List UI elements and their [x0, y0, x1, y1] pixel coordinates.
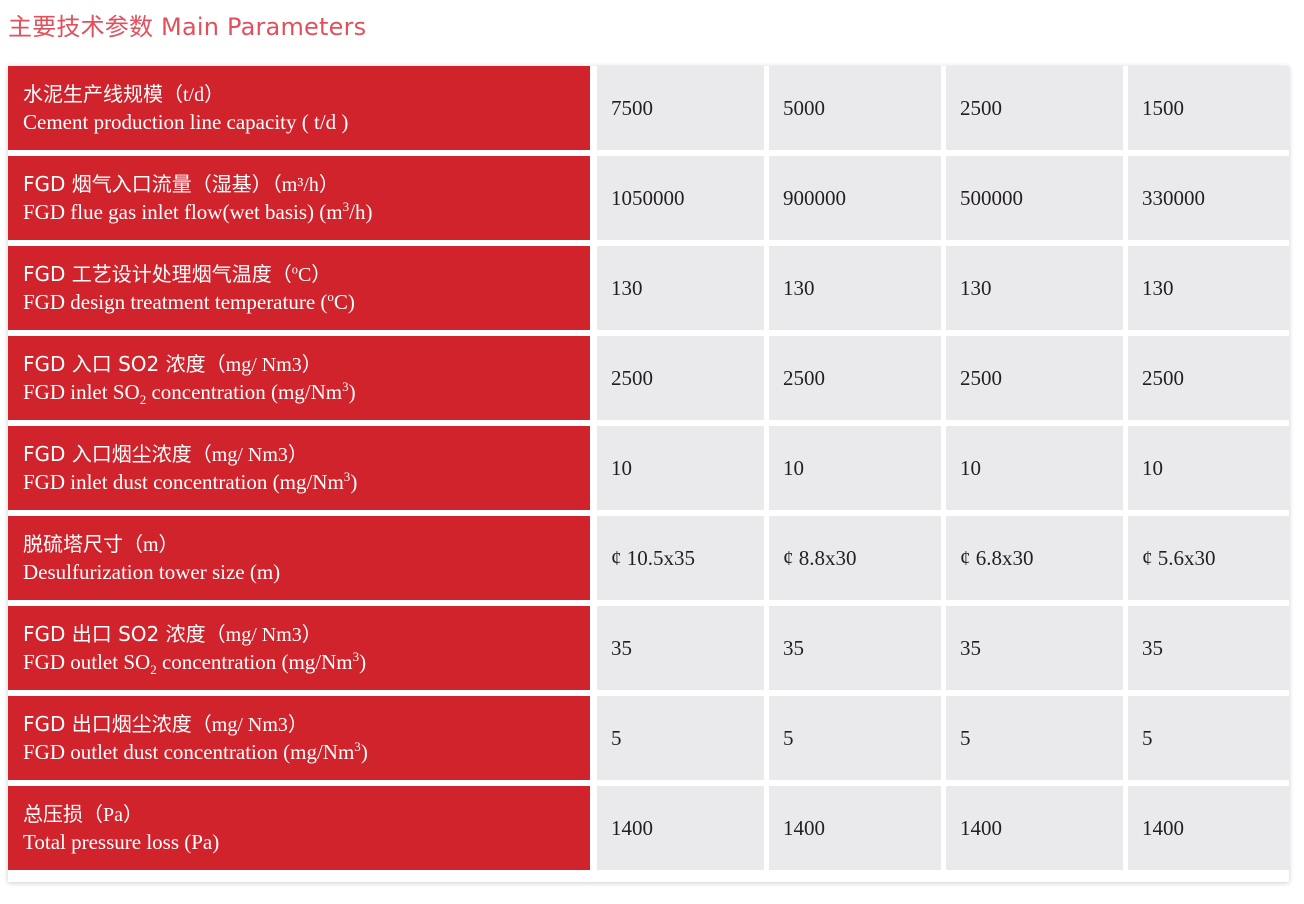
row-label-en: Total pressure loss (Pa) — [23, 829, 590, 856]
table-cell-value: 1400 — [946, 786, 1128, 876]
row-label-en: FGD inlet SO2 concentration (mg/Nm3) — [23, 379, 590, 406]
row-label-en: Desulfurization tower size (m) — [23, 559, 590, 586]
row-label-cn: FGD 出口 SO2 浓度（mg/ Nm3） — [23, 620, 590, 649]
table-cell-value: 35 — [1128, 606, 1289, 696]
table-cell-value: ¢ 5.6x30 — [1128, 516, 1289, 606]
page-title: 主要技术参数 Main Parameters — [8, 12, 366, 42]
table-cell-value: 5000 — [769, 66, 946, 156]
table-body: 水泥生产线规模（t/d） Cement production line capa… — [8, 66, 1289, 876]
table-cell-value: 1050000 — [597, 156, 769, 246]
row-label-en: FGD outlet dust concentration (mg/Nm3) — [23, 739, 590, 766]
table-cell-value: 35 — [946, 606, 1128, 696]
table-row: FGD 入口 SO2 浓度（mg/ Nm3） FGD inlet SO2 con… — [8, 336, 1289, 426]
page-title-cn: 主要技术参数 — [8, 13, 153, 41]
table-cell-value: 5 — [1128, 696, 1289, 786]
row-label-en: FGD flue gas inlet flow(wet basis) (m3/h… — [23, 199, 590, 226]
row-label-cn: FGD 烟气入口流量（湿基）（m³/h） — [23, 170, 590, 199]
table-cell-value: 2500 — [1128, 336, 1289, 426]
row-label-design-temperature: FGD 工艺设计处理烟气温度（oC） FGD design treatment … — [8, 246, 597, 336]
row-label-en: Cement production line capacity ( t/d ) — [23, 109, 590, 136]
table-cell-value: 35 — [597, 606, 769, 696]
page-title-en: Main Parameters — [161, 13, 366, 41]
table-cell-value: 900000 — [769, 156, 946, 246]
main-parameters-table: 水泥生产线规模（t/d） Cement production line capa… — [8, 66, 1289, 876]
row-label-inlet-dust: FGD 入口烟尘浓度（mg/ Nm3） FGD inlet dust conce… — [8, 426, 597, 516]
row-label-tower-size: 脱硫塔尺寸（m） Desulfurization tower size (m) — [8, 516, 597, 606]
row-label-cn: 水泥生产线规模（t/d） — [23, 80, 590, 109]
table-row: FGD 烟气入口流量（湿基）（m³/h） FGD flue gas inlet … — [8, 156, 1289, 246]
row-label-cn: FGD 入口烟尘浓度（mg/ Nm3） — [23, 440, 590, 469]
table-cell-value: 1400 — [1128, 786, 1289, 876]
table-row: FGD 出口烟尘浓度（mg/ Nm3） FGD outlet dust conc… — [8, 696, 1289, 786]
table-row: 总压损（Pa） Total pressure loss (Pa) 1400 14… — [8, 786, 1289, 876]
row-label-cn: FGD 工艺设计处理烟气温度（oC） — [23, 260, 590, 289]
row-label-cn: FGD 入口 SO2 浓度（mg/ Nm3） — [23, 350, 590, 379]
table-cell-value: 5 — [769, 696, 946, 786]
table-cell-value: 2500 — [946, 336, 1128, 426]
row-label-total-pressure-loss: 总压损（Pa） Total pressure loss (Pa) — [8, 786, 597, 876]
table-cell-value: 7500 — [597, 66, 769, 156]
row-label-cn: 总压损（Pa） — [23, 800, 590, 829]
row-label-inlet-so2: FGD 入口 SO2 浓度（mg/ Nm3） FGD inlet SO2 con… — [8, 336, 597, 426]
table-cell-value: ¢ 8.8x30 — [769, 516, 946, 606]
table-cell-value: 2500 — [597, 336, 769, 426]
row-label-cn: 脱硫塔尺寸（m） — [23, 530, 590, 559]
row-label-en: FGD inlet dust concentration (mg/Nm3) — [23, 469, 590, 496]
table-row: FGD 出口 SO2 浓度（mg/ Nm3） FGD outlet SO2 co… — [8, 606, 1289, 696]
table-cell-value: 35 — [769, 606, 946, 696]
row-label-flue-gas-inlet-flow: FGD 烟气入口流量（湿基）（m³/h） FGD flue gas inlet … — [8, 156, 597, 246]
table-cell-value: 10 — [597, 426, 769, 516]
table-cell-value: 5 — [946, 696, 1128, 786]
table-cell-value: 1400 — [597, 786, 769, 876]
table-cell-value: 500000 — [946, 156, 1128, 246]
row-label-cement-capacity: 水泥生产线规模（t/d） Cement production line capa… — [8, 66, 597, 156]
table-cell-value: 10 — [1128, 426, 1289, 516]
table-cell-value: 130 — [769, 246, 946, 336]
table-row: FGD 入口烟尘浓度（mg/ Nm3） FGD inlet dust conce… — [8, 426, 1289, 516]
table-cell-value: ¢ 6.8x30 — [946, 516, 1128, 606]
row-label-outlet-dust: FGD 出口烟尘浓度（mg/ Nm3） FGD outlet dust conc… — [8, 696, 597, 786]
row-label-en: FGD outlet SO2 concentration (mg/Nm3) — [23, 649, 590, 676]
table-row: 脱硫塔尺寸（m） Desulfurization tower size (m) … — [8, 516, 1289, 606]
table-row: FGD 工艺设计处理烟气温度（oC） FGD design treatment … — [8, 246, 1289, 336]
table-cell-value: 10 — [946, 426, 1128, 516]
row-label-cn: FGD 出口烟尘浓度（mg/ Nm3） — [23, 710, 590, 739]
parameters-page: 主要技术参数 Main Parameters 水泥生产线规模（t/d） Ceme… — [0, 0, 1304, 904]
table-row: 水泥生产线规模（t/d） Cement production line capa… — [8, 66, 1289, 156]
table-cell-value: 330000 — [1128, 156, 1289, 246]
row-label-outlet-so2: FGD 出口 SO2 浓度（mg/ Nm3） FGD outlet SO2 co… — [8, 606, 597, 696]
table-cell-value: 2500 — [946, 66, 1128, 156]
table-cell-value: 1500 — [1128, 66, 1289, 156]
table-cell-value: 10 — [769, 426, 946, 516]
main-parameters-table-container: 水泥生产线规模（t/d） Cement production line capa… — [8, 66, 1289, 882]
table-cell-value: 2500 — [769, 336, 946, 426]
table-cell-value: ¢ 10.5x35 — [597, 516, 769, 606]
table-cell-value: 130 — [1128, 246, 1289, 336]
table-cell-value: 1400 — [769, 786, 946, 876]
table-cell-value: 130 — [946, 246, 1128, 336]
row-label-en: FGD design treatment temperature (oC) — [23, 289, 590, 316]
table-cell-value: 5 — [597, 696, 769, 786]
table-cell-value: 130 — [597, 246, 769, 336]
